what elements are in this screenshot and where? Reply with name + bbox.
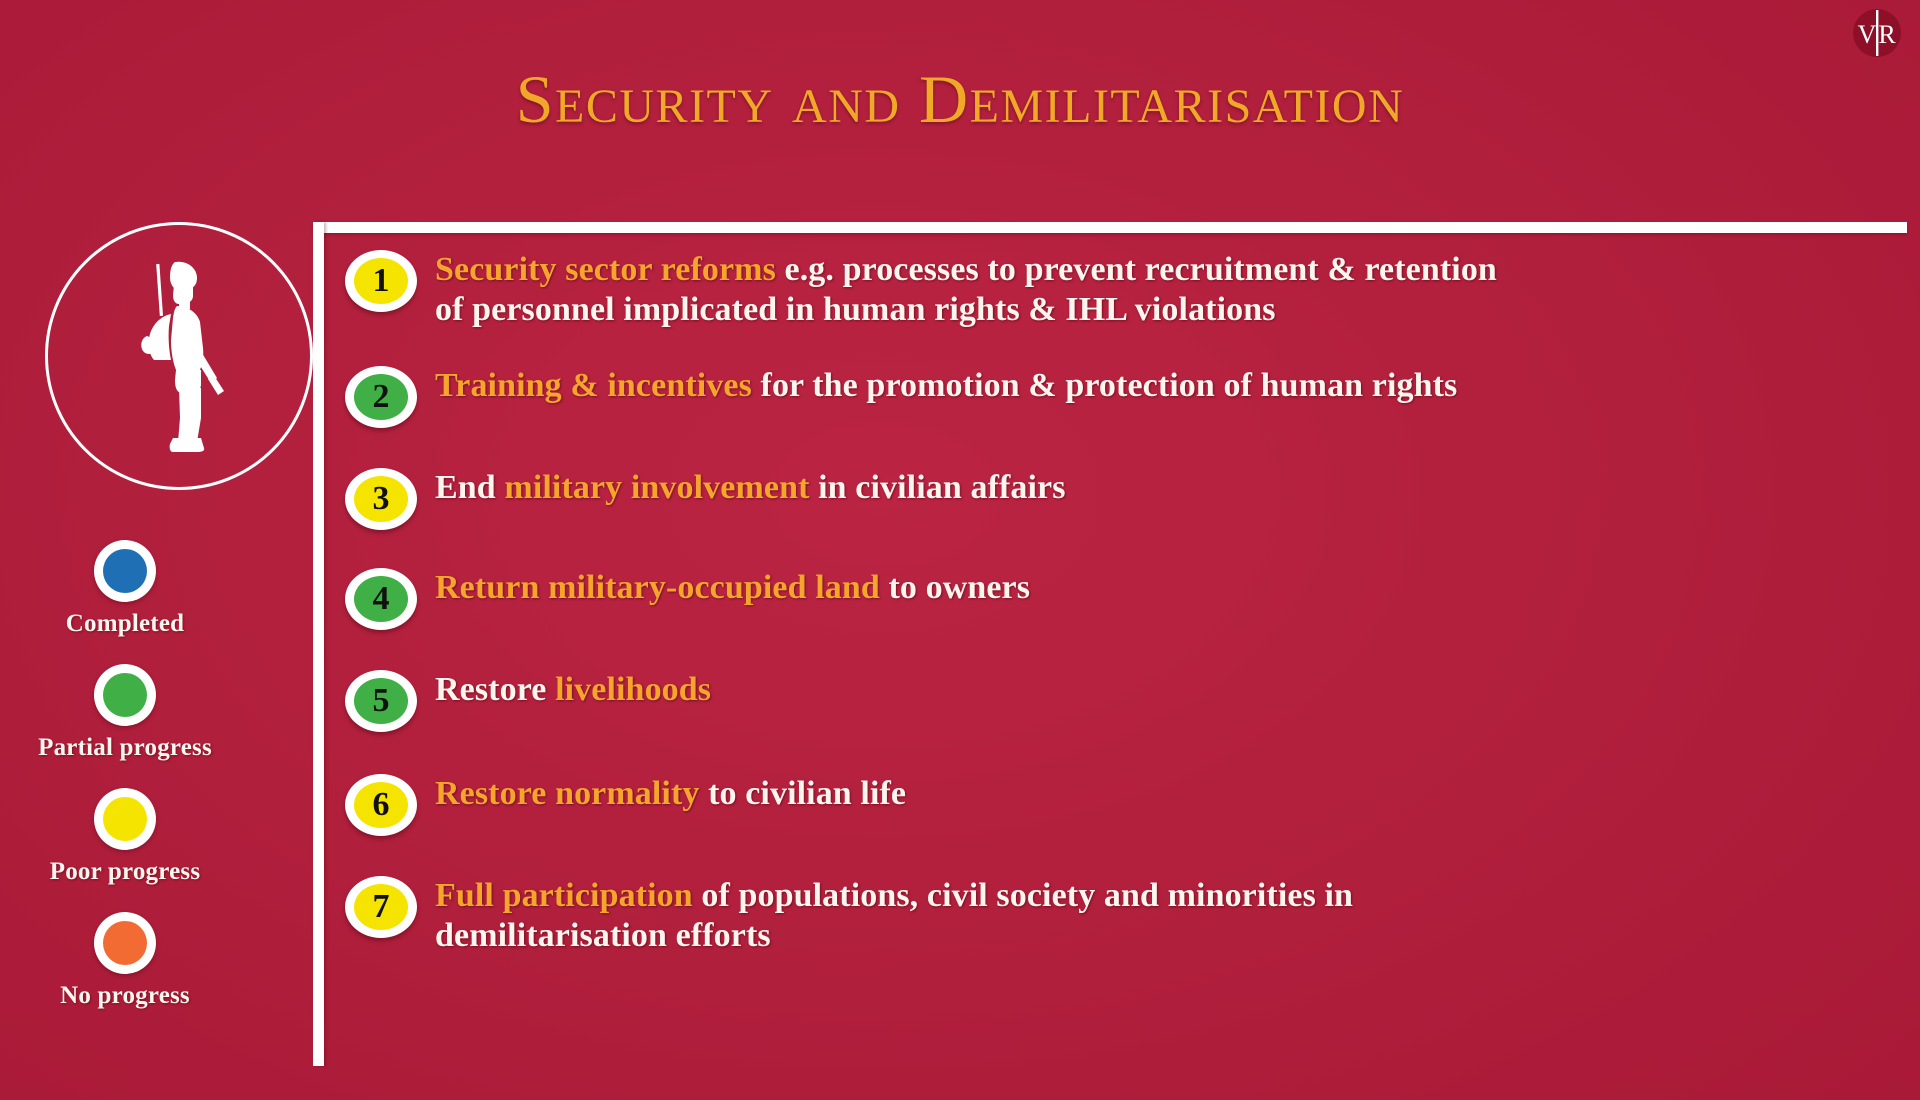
body-text: e.g. processes to prevent recruitment & …	[785, 251, 1497, 288]
list-item-line: Security sector reforms e.g. processes t…	[435, 250, 1890, 290]
list-item: 5Restore livelihoods	[345, 668, 1890, 732]
list-item-number: 7	[354, 884, 408, 930]
list-item-number-badge: 3	[345, 468, 417, 530]
body-text: demilitarisation efforts	[435, 917, 771, 954]
list-item-line: Training & incentives for the promotion …	[435, 366, 1890, 406]
emphasis-text: Return military-occupied land	[435, 569, 888, 606]
list-item-number-badge: 1	[345, 250, 417, 312]
soldier-icon	[125, 252, 233, 460]
list-item: 4Return military-occupied land to owners	[345, 566, 1890, 630]
list-item: 3End military involvement in civilian af…	[345, 466, 1890, 530]
commitments-list: 1Security sector reforms e.g. processes …	[345, 248, 1890, 956]
frame-top-rule	[313, 222, 1907, 233]
list-item-line: End military involvement in civilian aff…	[435, 468, 1890, 508]
legend-status-dot	[94, 540, 156, 602]
list-item-number-badge: 5	[345, 670, 417, 732]
list-item-number-badge: 2	[345, 366, 417, 428]
list-item-line: Return military-occupied land to owners	[435, 568, 1890, 608]
legend-status-dot	[94, 912, 156, 974]
body-text: to civilian life	[708, 775, 906, 812]
list-item-text: Training & incentives for the promotion …	[435, 364, 1890, 406]
legend-item-poor-progress: Poor progress	[0, 788, 250, 886]
emphasis-text: Training & incentives	[435, 367, 761, 404]
list-item-text: Return military-occupied land to owners	[435, 566, 1890, 608]
vr-monogram-logo: V R	[1850, 6, 1904, 60]
list-item-number: 5	[354, 678, 408, 724]
list-item-text: Security sector reforms e.g. processes t…	[435, 248, 1890, 330]
list-item-line: of personnel implicated in human rights …	[435, 290, 1890, 330]
legend-status-swatch	[103, 549, 147, 593]
emphasis-text: Restore normality	[435, 775, 708, 812]
soldier-icon-circle	[45, 222, 313, 490]
list-item-number: 1	[354, 258, 408, 304]
legend-status-swatch	[103, 797, 147, 841]
list-item: 2Training & incentives for the promotion…	[345, 364, 1890, 428]
emphasis-text: livelihoods	[555, 671, 711, 708]
list-item-text: Restore normality to civilian life	[435, 772, 1890, 814]
emphasis-text: Full participation	[435, 877, 701, 914]
list-item: 1Security sector reforms e.g. processes …	[345, 248, 1890, 330]
status-legend: CompletedPartial progressPoor progressNo…	[0, 540, 250, 1036]
body-text: in civilian affairs	[818, 469, 1065, 506]
list-item-number-badge: 6	[345, 774, 417, 836]
legend-item-label: Poor progress	[0, 858, 250, 886]
list-item: 6Restore normality to civilian life	[345, 772, 1890, 836]
list-item-text: Restore livelihoods	[435, 668, 1890, 710]
list-item-text: Full participation of populations, civil…	[435, 874, 1890, 956]
legend-item-label: Completed	[0, 610, 250, 638]
body-text: End	[435, 469, 504, 506]
body-text: to owners	[888, 569, 1030, 606]
list-item-number: 4	[354, 576, 408, 622]
svg-text:V: V	[1858, 20, 1877, 49]
frame-left-rule	[313, 222, 324, 1066]
body-text: of personnel implicated in human rights …	[435, 291, 1276, 328]
page-title: Security and Demilitarisation	[0, 60, 1920, 139]
list-item: 7Full participation of populations, civi…	[345, 874, 1890, 956]
legend-status-swatch	[103, 673, 147, 717]
legend-status-dot	[94, 664, 156, 726]
list-item-number: 3	[354, 476, 408, 522]
list-item-number: 2	[354, 374, 408, 420]
body-text: of populations, civil society and minori…	[701, 877, 1353, 914]
svg-text:R: R	[1878, 20, 1896, 49]
list-item-line: demilitarisation efforts	[435, 916, 1890, 956]
legend-item-no-progress: No progress	[0, 912, 250, 1010]
legend-item-label: Partial progress	[0, 734, 250, 762]
emphasis-text: military involvement	[504, 469, 818, 506]
list-item-number-badge: 7	[345, 876, 417, 938]
legend-status-dot	[94, 788, 156, 850]
body-text: for the promotion & protection of human …	[761, 367, 1458, 404]
list-item-number: 6	[354, 782, 408, 828]
legend-item-partial-progress: Partial progress	[0, 664, 250, 762]
list-item-line: Full participation of populations, civil…	[435, 876, 1890, 916]
legend-item-label: No progress	[0, 982, 250, 1010]
list-item-line: Restore livelihoods	[435, 670, 1890, 710]
body-text: Restore	[435, 671, 555, 708]
list-item-line: Restore normality to civilian life	[435, 774, 1890, 814]
emphasis-text: Security sector reforms	[435, 251, 785, 288]
list-item-number-badge: 4	[345, 568, 417, 630]
legend-item-completed: Completed	[0, 540, 250, 638]
legend-status-swatch	[103, 921, 147, 965]
slide-canvas: V R Security and Demilitarisation	[0, 0, 1920, 1100]
list-item-text: End military involvement in civilian aff…	[435, 466, 1890, 508]
